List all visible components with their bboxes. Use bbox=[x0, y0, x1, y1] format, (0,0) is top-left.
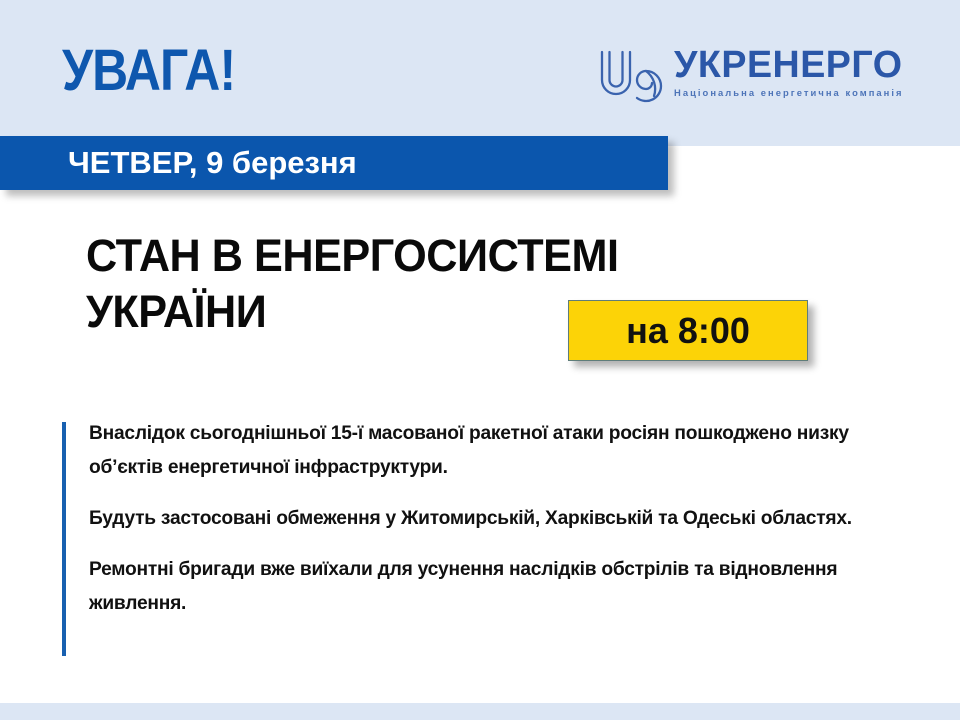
ukrenergo-logo: УКРЕНЕРГО Національна енергетична компан… bbox=[596, 44, 914, 106]
footer-strip bbox=[0, 703, 960, 720]
time-badge-label: на 8:00 bbox=[569, 301, 807, 360]
ukrenergo-wordmark: УКРЕНЕРГО bbox=[674, 44, 910, 86]
paragraph-item: Ремонтні бригади вже виїхали для усуненн… bbox=[89, 552, 877, 620]
accent-bar bbox=[62, 422, 66, 656]
paragraph-list: Внаслідок сьогоднішньої 15-ї масованої р… bbox=[89, 416, 889, 620]
ukrenergo-tagline: Національна енергетична компанія bbox=[674, 87, 912, 99]
ukrenergo-u-leaf-mark-icon bbox=[596, 46, 668, 104]
infographic-page: УВАГА! УКРЕНЕРГО Національна енергетична… bbox=[0, 0, 960, 720]
header-band: УВАГА! УКРЕНЕРГО Національна енергетична… bbox=[0, 0, 960, 146]
time-badge: на 8:00 bbox=[568, 300, 808, 361]
main-heading-line-1: СТАН В ЕНЕРГОСИСТЕМІ bbox=[86, 228, 777, 284]
date-banner-label: ЧЕТВЕР, 9 березня bbox=[68, 136, 357, 190]
page-title-attention: УВАГА! bbox=[62, 42, 235, 100]
date-banner: ЧЕТВЕР, 9 березня bbox=[0, 136, 668, 190]
ukrenergo-logo-text: УКРЕНЕРГО Національна енергетична компан… bbox=[674, 44, 912, 99]
paragraph-item: Будуть застосовані обмеження у Житомирсь… bbox=[89, 501, 877, 535]
paragraph-item: Внаслідок сьогоднішньої 15-ї масованої р… bbox=[89, 416, 877, 484]
